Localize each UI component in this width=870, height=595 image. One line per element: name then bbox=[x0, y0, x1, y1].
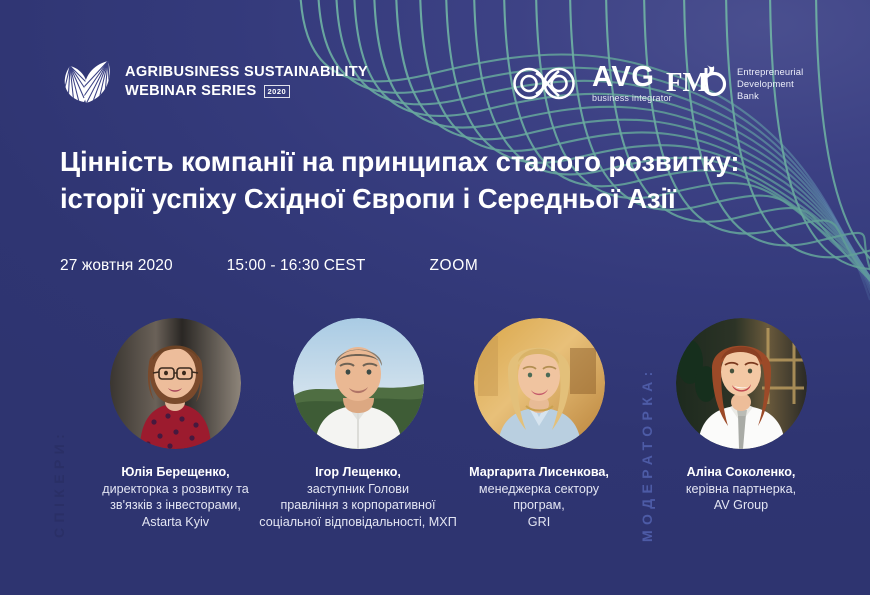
fmo-logo: FM Entrepreneurial Development Bank bbox=[666, 64, 803, 101]
speaker-name-role: Ігор Лещенко, заступник Голови правління… bbox=[258, 464, 458, 530]
portrait-woman-auburn-tie-icon bbox=[676, 318, 807, 449]
avatar bbox=[474, 318, 605, 449]
brand-lockup: AGRIBUSINESS SUSTAINABILITY WEBINAR SERI… bbox=[58, 60, 368, 104]
speaker-card: Юлія Берещенко, директорка з розвитку та… bbox=[88, 318, 263, 530]
event-platform: ZOOM bbox=[429, 257, 478, 275]
speaker-role-line-3: соціальної відповідальності, МХП bbox=[258, 514, 458, 531]
fmo-sub-line-2: Development bbox=[737, 78, 803, 90]
speaker-role-line-2: зв'язків з інвесторами, bbox=[88, 497, 263, 514]
year-badge: 2020 bbox=[264, 85, 291, 98]
speaker-role-line-1: директорка з розвитку та bbox=[88, 481, 263, 498]
svg-text:FM: FM bbox=[666, 67, 708, 97]
fmo-sub-line-3: Bank bbox=[737, 90, 803, 102]
brand-line-1: AGRIBUSINESS SUSTAINABILITY bbox=[125, 64, 368, 81]
brand-line-2: WEBINAR SERIES 2020 bbox=[125, 83, 368, 100]
page-title: Ціннiсть компанії на принципах сталого р… bbox=[60, 143, 790, 217]
title-line-1: Ціннiсть компанії на принципах сталого р… bbox=[60, 146, 739, 177]
speaker-name-role: Маргарита Лисенкова, менеджерка сектору … bbox=[450, 464, 628, 530]
speaker-name-role: Юлія Берещенко, директорка з розвитку та… bbox=[88, 464, 263, 530]
speaker-name: Маргарита Лисенкова, bbox=[469, 465, 609, 479]
speaker-role-line-3: GRI bbox=[450, 514, 628, 531]
moderator-card: Аліна Соколенко, керівна партнерка, AV G… bbox=[652, 318, 830, 514]
fmo-subtitle: Entrepreneurial Development Bank bbox=[737, 64, 803, 101]
portrait-woman-glasses-icon bbox=[110, 318, 241, 449]
speaker-role-line-2: програм, bbox=[450, 497, 628, 514]
moderator-name: Аліна Соколенко, bbox=[687, 465, 796, 479]
speaker-name: Юлія Берещенко, bbox=[121, 465, 229, 479]
moderator-name-role: Аліна Соколенко, керівна партнерка, AV G… bbox=[652, 464, 830, 514]
brand-line-2-text: WEBINAR SERIES bbox=[125, 83, 257, 100]
portrait-woman-blonde-icon bbox=[474, 318, 605, 449]
speaker-role-line-1: заступник Голови bbox=[258, 481, 458, 498]
avg-tagline: business integrator bbox=[592, 93, 672, 104]
webinar-poster: AGRIBUSINESS SUSTAINABILITY WEBINAR SERI… bbox=[0, 0, 870, 595]
leaf-icon bbox=[58, 60, 114, 104]
speaker-card: Маргарита Лисенкова, менеджерка сектору … bbox=[450, 318, 628, 530]
event-meta: 27 жовтня 2020 15:00 - 16:30 CEST ZOOM bbox=[60, 257, 478, 275]
avg-infinity-logo-icon bbox=[512, 65, 584, 102]
moderator-role-line-2: AV Group bbox=[652, 497, 830, 514]
poster-header: AGRIBUSINESS SUSTAINABILITY WEBINAR SERI… bbox=[0, 0, 870, 128]
avatar bbox=[676, 318, 807, 449]
avatar bbox=[110, 318, 241, 449]
title-line-2: історії успіху Східної Європи і Середньо… bbox=[60, 180, 790, 217]
speakers-label: СПІКЕРИ: bbox=[51, 306, 67, 538]
avatar bbox=[293, 318, 424, 449]
avg-name: AVG bbox=[592, 63, 655, 92]
moderator-role-line-1: керівна партнерка, bbox=[652, 481, 830, 498]
speaker-role-line-3: Astarta Kyiv bbox=[88, 514, 263, 531]
speaker-name: Ігор Лещенко, bbox=[315, 465, 401, 479]
event-date: 27 жовтня 2020 bbox=[60, 257, 173, 275]
speaker-role-line-1: менеджерка сектору bbox=[450, 481, 628, 498]
avg-logo: AVG business integrator bbox=[512, 63, 672, 104]
fmo-sub-line-1: Entrepreneurial bbox=[737, 66, 803, 78]
event-time: 15:00 - 16:30 CEST bbox=[227, 257, 366, 275]
portrait-man-white-shirt-icon bbox=[293, 318, 424, 449]
fmo-logo-icon: FM bbox=[666, 64, 728, 98]
speaker-role-line-2: правління з корпоративної bbox=[258, 497, 458, 514]
speaker-card: Ігор Лещенко, заступник Голови правління… bbox=[258, 318, 458, 530]
